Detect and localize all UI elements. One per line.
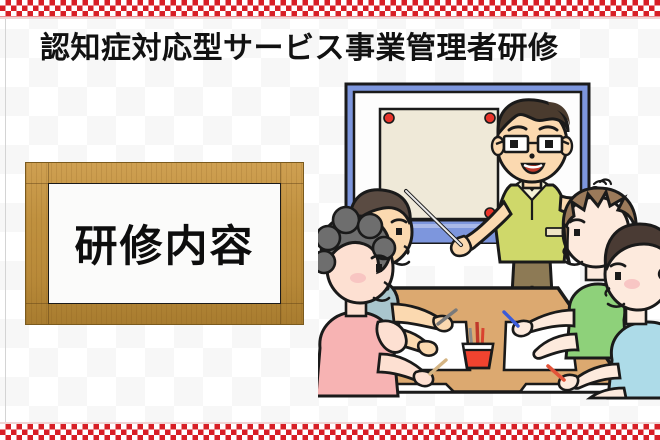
left-margin-rule [5, 19, 6, 422]
bottom-checkered-border [0, 424, 660, 440]
top-checkered-border [0, 0, 660, 17]
slide-canvas: 認知症対応型サービス事業管理者研修 研修内容 [0, 0, 660, 440]
top-border-edge [0, 17, 660, 19]
board-surface: 研修内容 [48, 183, 281, 304]
wooden-board-frame: 研修内容 [25, 162, 304, 325]
page-title: 認知症対応型サービス事業管理者研修 [40, 31, 620, 67]
bottom-border-edge [0, 422, 660, 424]
classroom-training-illustration [318, 72, 660, 402]
board-text: 研修内容 [75, 212, 255, 274]
